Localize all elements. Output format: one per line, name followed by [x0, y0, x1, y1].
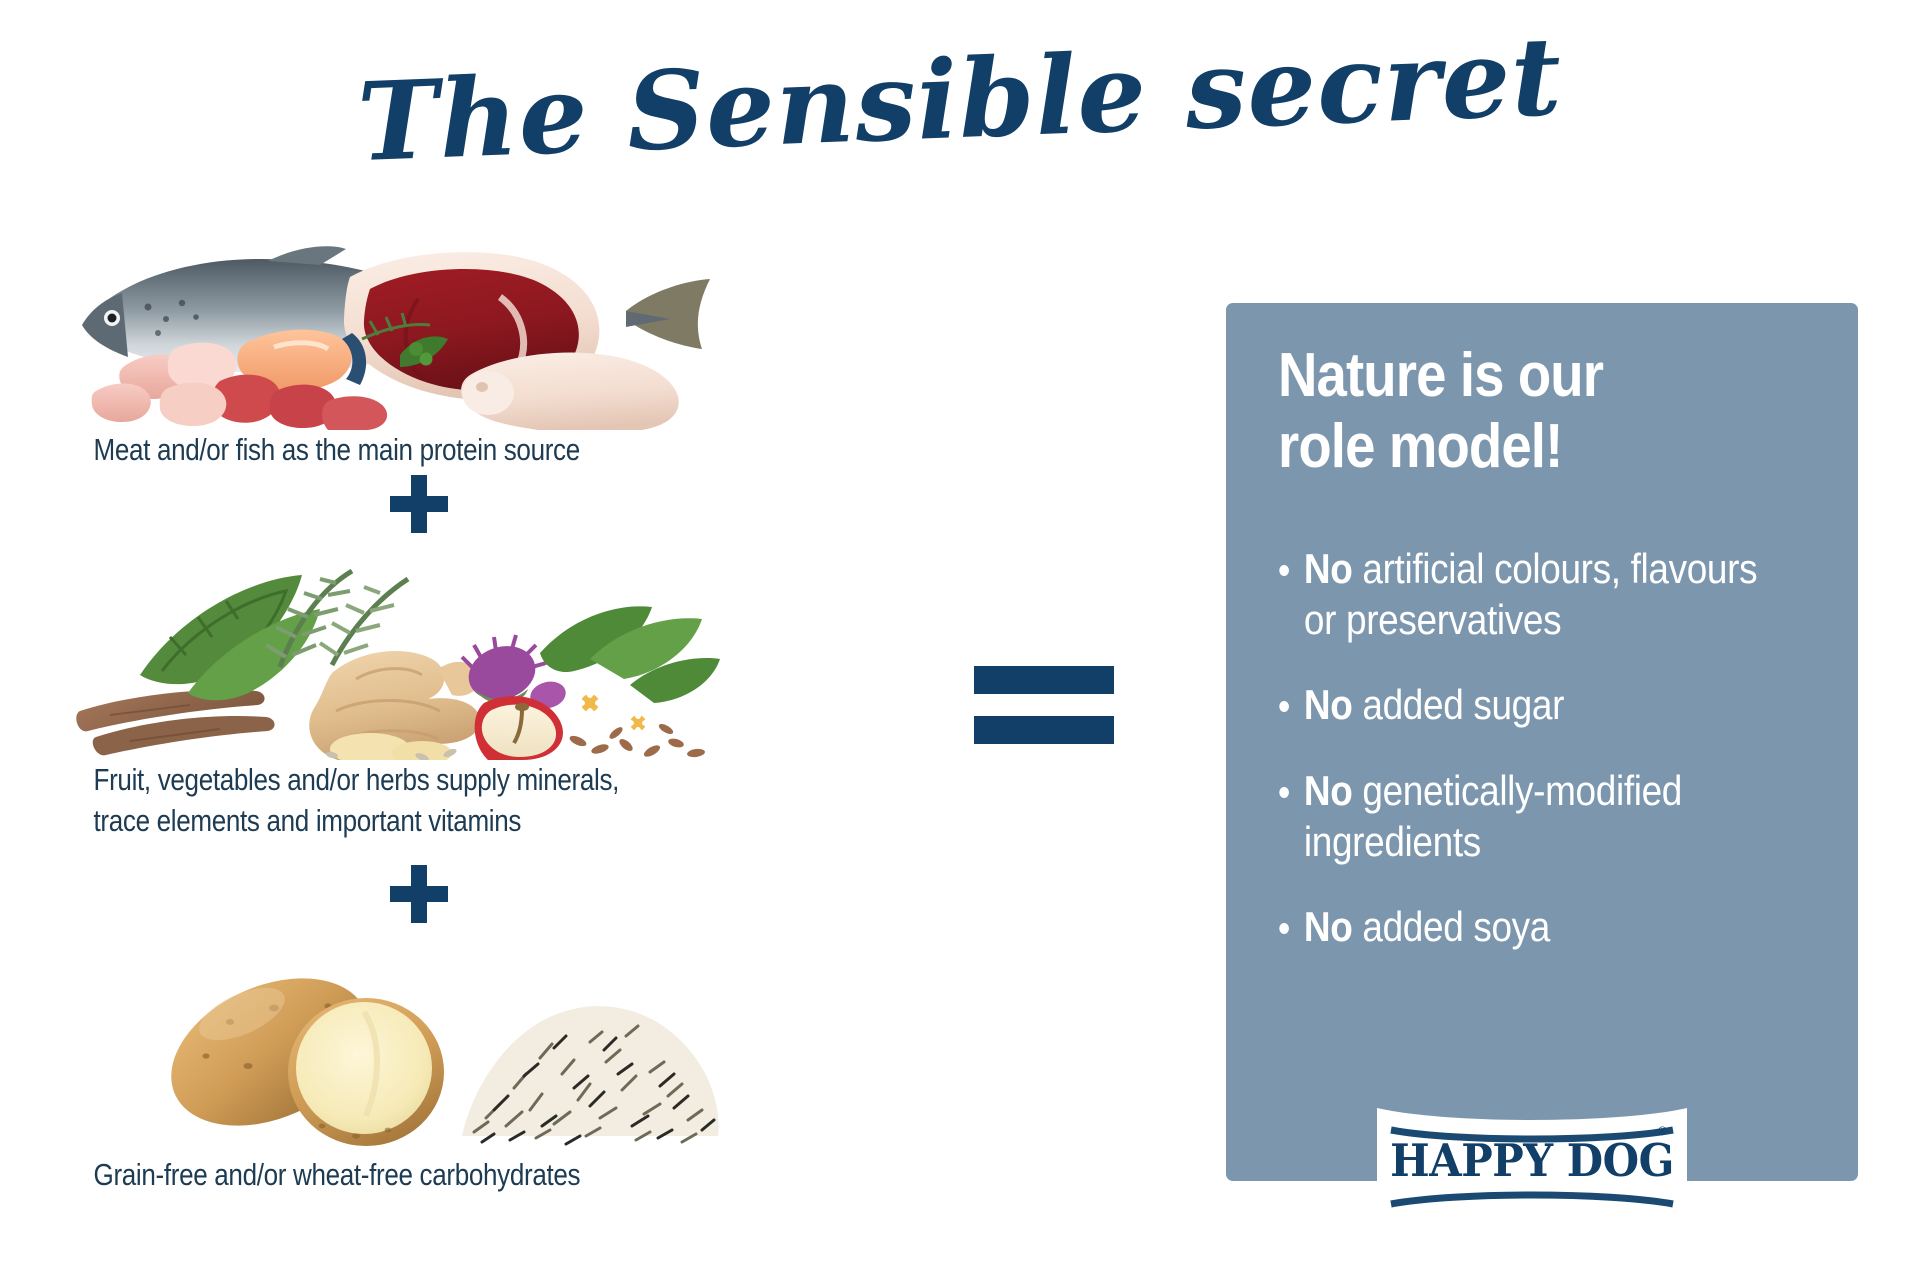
logo-word-dog: DOG: [1567, 1134, 1674, 1187]
meat-and-fish-illustration: [70, 215, 730, 430]
bullet-dot-icon: [1279, 787, 1289, 798]
list-item: No added soya: [1274, 901, 1784, 952]
list-item: No artificial colours, flavours or prese…: [1274, 543, 1784, 645]
ingredient-caption-plants: Fruit, vegetables and/or herbs supply mi…: [70, 760, 624, 842]
ingredient-caption-carbs: Grain-free and/or wheat-free carbohydrat…: [70, 1155, 624, 1196]
page-title: The Sensible secret: [0, 1, 1920, 199]
nature-role-model-panel: Nature is our role model! No artificial …: [1226, 303, 1858, 1181]
ingredient-item-carbs: Grain-free and/or wheat-free carbohydrat…: [70, 940, 730, 1196]
bullet-dot-icon: [1279, 923, 1289, 934]
list-item: No genetically-modified ingredients: [1274, 765, 1784, 867]
equals-bar-bottom: [974, 716, 1114, 744]
equals-bar-top: [974, 666, 1114, 694]
bullet-text: artificial colours, flavours or preserva…: [1304, 545, 1757, 643]
potato-and-rice-photo: [70, 940, 730, 1155]
fruit-vegetables-herbs-photo: [70, 545, 730, 760]
logo-word-happy: HAPPY: [1390, 1134, 1553, 1187]
bullet-bold-word: No: [1304, 545, 1353, 592]
list-item: No added sugar: [1274, 679, 1784, 730]
panel-bullet-list: No artificial colours, flavours or prese…: [1274, 543, 1854, 986]
ingredient-caption-meat: Meat and/or fish as the main protein sou…: [70, 430, 624, 471]
registered-trademark-icon: ®: [1658, 1124, 1667, 1138]
bullet-dot-icon: [1279, 701, 1289, 712]
logo-wordmark: HAPPY DOG: [1388, 1138, 1676, 1183]
bullet-text: added sugar: [1352, 681, 1564, 728]
ingredient-item-meat: Meat and/or fish as the main protein sou…: [70, 215, 730, 471]
plus-icon-2: [390, 865, 448, 923]
potato-rice-illustration: [70, 940, 730, 1155]
equals-icon: [974, 660, 1114, 746]
bullet-bold-word: No: [1304, 767, 1353, 814]
plus-icon-1: [390, 475, 448, 533]
bullet-bold-word: No: [1304, 681, 1353, 728]
bullet-bold-word: No: [1304, 903, 1353, 950]
meat-and-fish-photo: [70, 215, 730, 430]
happy-dog-logo: HAPPY DOG ®: [1377, 1108, 1687, 1226]
panel-heading: Nature is our role model!: [1278, 341, 1753, 482]
bullet-dot-icon: [1279, 565, 1289, 576]
ingredient-item-plants: Fruit, vegetables and/or herbs supply mi…: [70, 545, 730, 842]
herbs-illustration: [70, 545, 730, 760]
infographic-canvas: The Sensible secret: [0, 0, 1920, 1280]
bullet-text: added soya: [1352, 903, 1550, 950]
ingredients-column: Meat and/or fish as the main protein sou…: [70, 215, 730, 1225]
bullet-text: genetically-modified ingredients: [1304, 767, 1682, 865]
